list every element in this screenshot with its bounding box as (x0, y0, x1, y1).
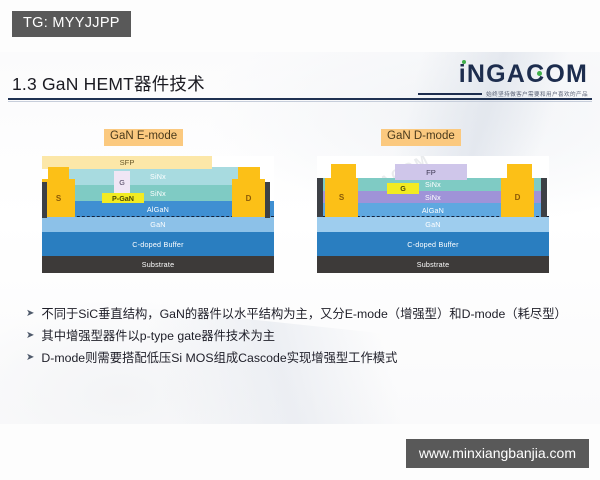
bullet-list: ➤ 不同于SiC垂直结构，GaN的器件以水平结构为主，又分E-mode（增强型）… (26, 306, 586, 371)
brand-logo: iNGACOM 始终坚持做客户需要和用户喜欢的产品 (418, 62, 588, 98)
layer-c-doped-buffer: C-doped Buffer (317, 232, 549, 256)
diagram-gan-e-mode: iNGACOM NGACOM Substrate C-doped Buffer … (42, 156, 274, 273)
drain-sidewall (541, 178, 547, 217)
logo-tagline-row: 始终坚持做客户需要和用户喜欢的产品 (418, 90, 588, 98)
drain-sidewall (265, 182, 270, 218)
logo-tagline: 始终坚持做客户需要和用户喜欢的产品 (486, 90, 588, 98)
electrode-source: S (325, 178, 358, 217)
bullet-text: 其中增强型器件以p-type gate器件技术为主 (41, 328, 275, 346)
site-watermark-badge: www.minxiangbanjia.com (406, 439, 589, 468)
diagram-gan-d-mode: iNGACOM NGACOM Substrate C-doped Buffer … (317, 156, 549, 273)
title-rule-secondary (8, 101, 592, 102)
bullet-item: ➤ 不同于SiC垂直结构，GaN的器件以水平结构为主，又分E-mode（增强型）… (26, 306, 586, 324)
bullet-text: 不同于SiC垂直结构，GaN的器件以水平结构为主，又分E-mode（增强型）和D… (41, 306, 566, 324)
feature-field-plate: FP (395, 164, 467, 180)
layer-gan: GaN (42, 217, 274, 232)
page-title: 1.3 GaN HEMT器件技术 (12, 71, 205, 96)
bullet-text: D-mode则需要搭配低压Si MOS组成Cascode实现增强型工作模式 (41, 350, 397, 368)
logo-rule (418, 93, 482, 95)
logo-dot-accent-icon (537, 71, 542, 76)
title-rule (8, 98, 592, 100)
layer-substrate: Substrate (42, 256, 274, 273)
feature-gate: G (114, 171, 130, 193)
bullet-arrow-icon: ➤ (26, 328, 34, 344)
feature-gate: G (387, 183, 419, 194)
layer-c-doped-buffer: C-doped Buffer (42, 232, 274, 256)
source-sidewall (42, 182, 47, 218)
drain-electrode-neck (507, 164, 532, 178)
logo-wordmark: iNGACOM (459, 62, 588, 87)
bullet-item: ➤ D-mode则需要搭配低压Si MOS组成Cascode实现增强型工作模式 (26, 350, 586, 368)
logo-text: iNGACOM (459, 60, 588, 88)
layer-gan: GaN (317, 217, 549, 232)
mode-label-d-mode: GaN D-mode (381, 129, 461, 146)
drain-electrode-neck (238, 167, 260, 179)
layer-sinx-upper: SiNx (56, 167, 260, 185)
tg-badge: TG: MYYJJPP (12, 11, 131, 37)
layer-substrate: Substrate (317, 256, 549, 273)
electrode-drain: D (232, 179, 265, 217)
bullet-arrow-icon: ➤ (26, 306, 34, 322)
layer-sinx-lower: SiNx (56, 185, 260, 201)
source-electrode-neck (48, 167, 69, 179)
slide-canvas: 1.3 GaN HEMT器件技术 iNGACOM 始终坚持做客户需要和用户喜欢的… (0, 52, 600, 424)
mode-label-e-mode: GaN E-mode (104, 129, 183, 146)
feature-p-gan: P-GaN (102, 193, 144, 203)
bullet-arrow-icon: ➤ (26, 350, 34, 366)
source-electrode-neck (331, 164, 356, 178)
electrode-drain: D (501, 178, 534, 217)
bullet-item: ➤ 其中增强型器件以p-type gate器件技术为主 (26, 328, 586, 346)
source-sidewall (317, 178, 323, 217)
